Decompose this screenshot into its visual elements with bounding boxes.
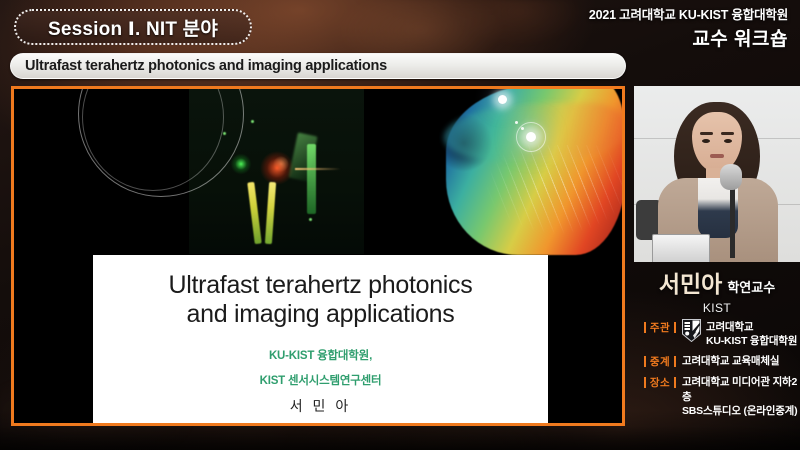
credits-list: 주관 고려대학교 KU-KIST 융합대학원 xyxy=(634,320,800,424)
broadcast-stage: Session Ⅰ. NIT 분야 2021 고려대학교 KU-KIST 융합대… xyxy=(0,0,800,450)
speaker-info-panel: 서민아 학연교수 KIST 주관 xyxy=(634,262,800,426)
slide-heading: Ultrafast terahertz photonics and imagin… xyxy=(169,271,473,329)
speaker-brow-right xyxy=(721,132,734,135)
lab-speck xyxy=(251,120,254,123)
credit-label-broadcast: 중계 xyxy=(638,354,682,369)
event-header: 2021 고려대학교 KU-KIST 융합대학원 교수 워크숍 xyxy=(589,4,788,51)
lab-green-beam xyxy=(307,144,316,214)
credit-row-venue: 장소 고려대학교 미디어관 지하2층 SBS스튜디오 (온라인중계) xyxy=(634,375,800,418)
slide-image-area xyxy=(14,89,622,255)
session-badge-label: Session Ⅰ. NIT 분야 xyxy=(48,14,218,41)
beam-trail-dot xyxy=(521,127,524,130)
credit-row-broadcast: 중계 고려대학교 교육매체실 xyxy=(634,354,800,369)
credit-label-venue: 장소 xyxy=(638,375,682,390)
credit-value-main: 고려대학교 미디어관 지하2층 xyxy=(682,376,797,402)
event-header-line2: 교수 워크숍 xyxy=(589,24,788,51)
credit-value-venue: 고려대학교 미디어관 지하2층 SBS스튜디오 (온라인중계) xyxy=(682,375,800,418)
pipe-divider-icon xyxy=(644,377,646,388)
credit-value-sub: KU-KIST 융합대학원 xyxy=(706,334,797,348)
lab-optic-rod-1 xyxy=(247,182,262,244)
pipe-divider-icon xyxy=(674,356,676,367)
speaker-eye-left xyxy=(702,139,710,143)
speaker-name-row: 서민아 학연교수 xyxy=(634,265,800,299)
pipe-divider-icon xyxy=(644,356,646,367)
lab-speck xyxy=(309,218,312,221)
beam-glow-spot-upper xyxy=(498,95,507,104)
credit-label-text: 주관 xyxy=(650,320,670,335)
speaker-eye-right xyxy=(724,139,732,143)
slide-affiliation-2: KIST 센서시스템연구센터 xyxy=(260,372,382,388)
talk-title-bar: Ultrafast terahertz photonics and imagin… xyxy=(10,53,626,79)
lab-optic-rod-2 xyxy=(265,182,276,244)
simulation-vector-arrows xyxy=(446,145,622,255)
credit-value-host: 고려대학교 KU-KIST 융합대학원 xyxy=(706,320,797,348)
speaker-brow-left xyxy=(700,132,713,135)
slide-heading-line2: and imaging applications xyxy=(187,300,455,328)
right-panel-accent-bar xyxy=(622,86,625,426)
speaker-name: 서민아 xyxy=(659,265,722,299)
lab-spark-streak xyxy=(295,168,341,170)
credit-value-sub: SBS스튜디오 (온라인중계) xyxy=(682,404,800,418)
presentation-slide: Ultrafast terahertz photonics and imagin… xyxy=(14,89,622,423)
pipe-divider-icon xyxy=(644,322,646,333)
credit-value-main: 고려대학교 교육매체실 xyxy=(682,355,779,367)
credit-value-main: 고려대학교 xyxy=(706,321,753,333)
talk-title-text: Ultrafast terahertz photonics and imagin… xyxy=(25,58,387,74)
korea-university-shield-icon xyxy=(682,319,701,342)
microphone-stem xyxy=(730,188,735,258)
speaker-organization: KIST xyxy=(634,301,800,315)
credit-label-host: 주관 xyxy=(638,320,682,335)
presentation-slide-frame: Ultrafast terahertz photonics and imagin… xyxy=(11,86,625,426)
microphone-head xyxy=(720,164,742,190)
slide-title-card: Ultrafast terahertz photonics and imagin… xyxy=(93,255,548,426)
credit-label-text: 중계 xyxy=(650,354,670,369)
pipe-divider-icon xyxy=(674,322,676,333)
slide-heading-line1: Ultrafast terahertz photonics xyxy=(169,271,473,299)
laptop-on-desk xyxy=(652,234,710,262)
event-header-line1: 2021 고려대학교 KU-KIST 융합대학원 xyxy=(589,4,788,23)
slide-affiliation-1: KU-KIST 융합대학원, xyxy=(269,347,372,363)
pipe-divider-icon xyxy=(674,377,676,388)
speaker-video-feed xyxy=(634,86,800,262)
slide-author: 서 민 아 xyxy=(290,396,351,416)
session-badge: Session Ⅰ. NIT 분야 xyxy=(14,9,252,45)
beam-trail-dot xyxy=(515,121,518,124)
speaker-mouth xyxy=(710,154,724,158)
credit-value-broadcast: 고려대학교 교육매체실 xyxy=(682,354,779,368)
speaker-rank: 학연교수 xyxy=(727,277,775,296)
credit-row-host: 주관 고려대학교 KU-KIST 융합대학원 xyxy=(634,320,800,348)
credit-label-text: 장소 xyxy=(650,375,670,390)
